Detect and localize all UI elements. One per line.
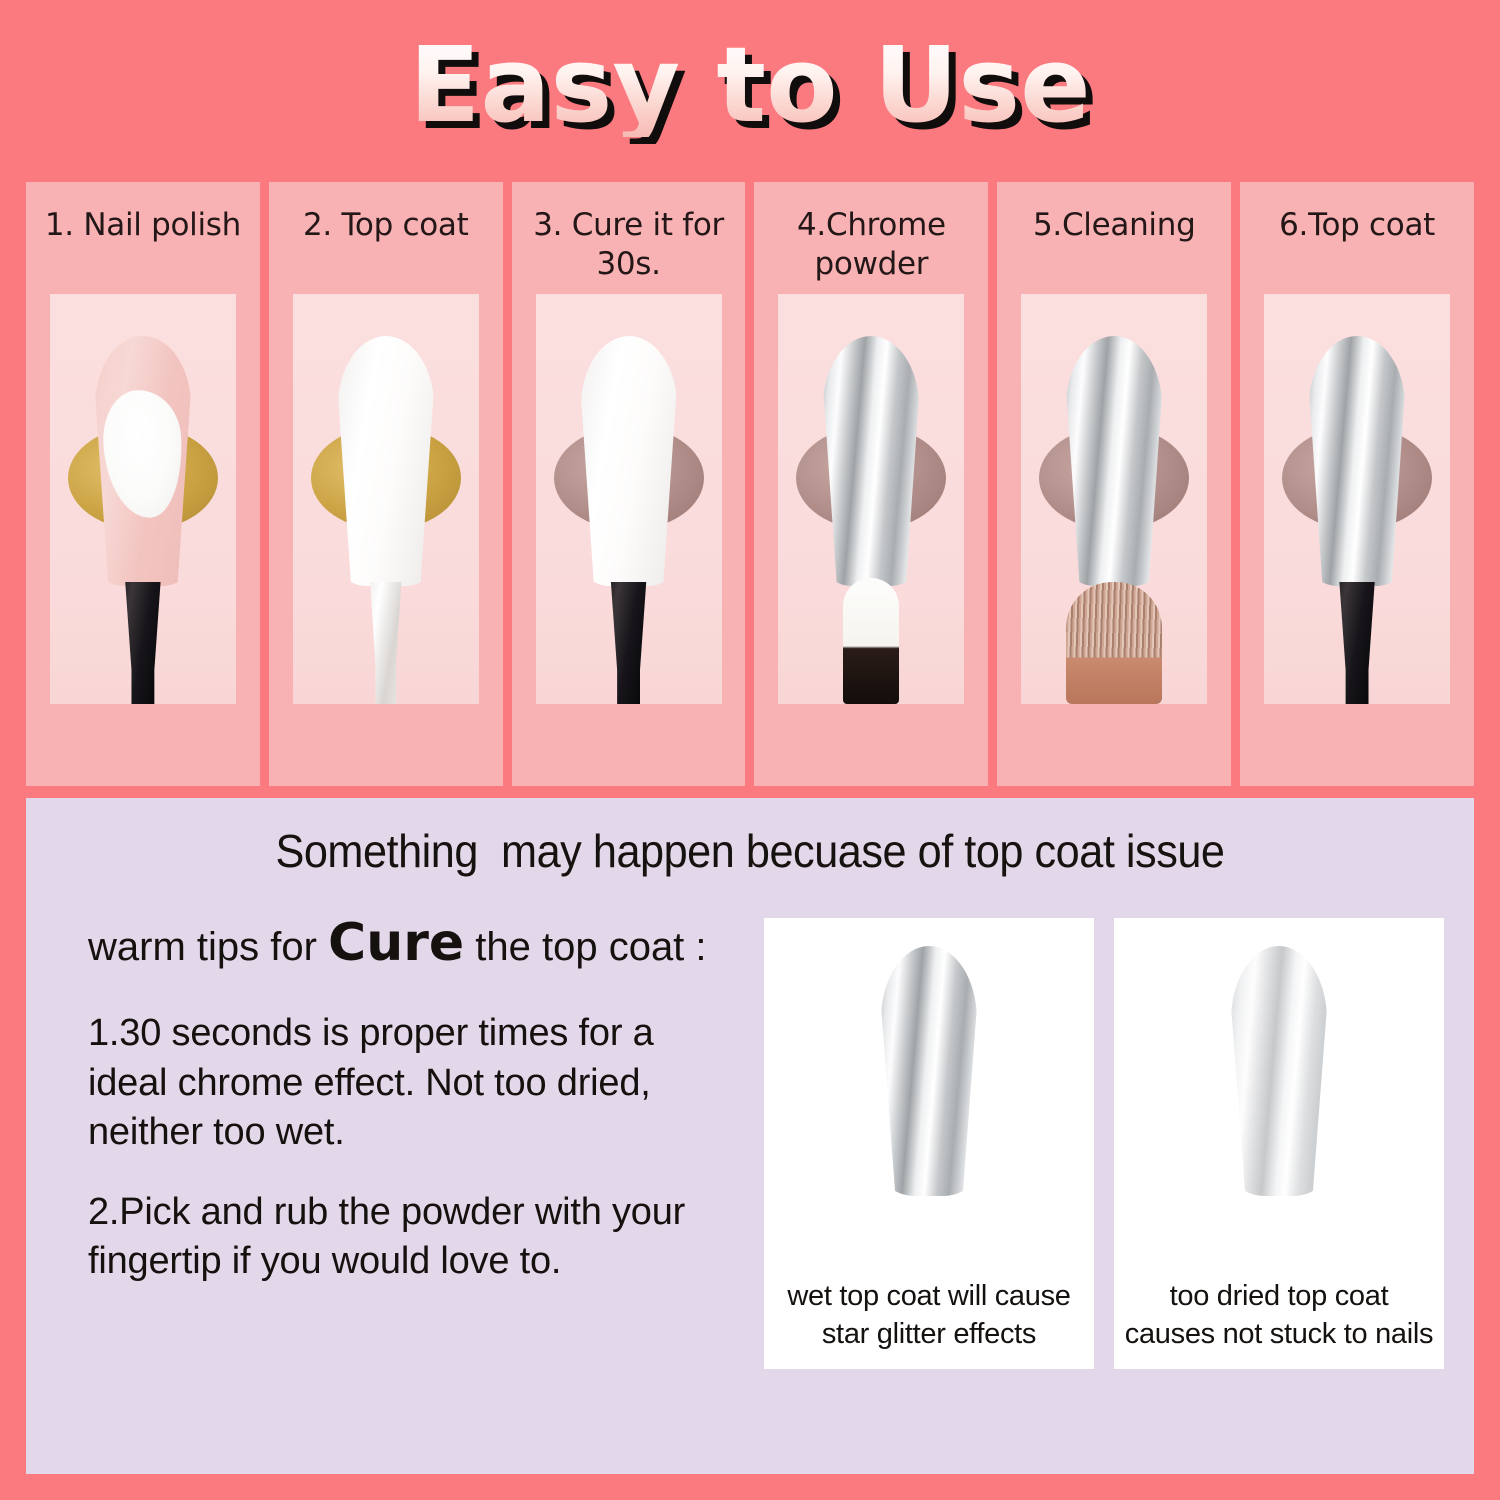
nail-tip <box>338 336 434 586</box>
title-bar: Easy to Use <box>0 0 1500 170</box>
step-photo-4 <box>778 294 964 704</box>
nail-tip <box>1231 946 1327 1196</box>
comparison-photo-dried <box>1129 940 1429 1270</box>
step-photo-6 <box>1264 294 1450 704</box>
notice-heading: Something may happen becuase of top coat… <box>69 798 1430 878</box>
dusting-brush-icon <box>1066 582 1162 704</box>
step-photo-1 <box>50 294 236 704</box>
comparison-card-dried: too dried top coat causes not stuck to n… <box>1114 918 1444 1369</box>
tips-lead-before: warm tips for <box>88 925 328 969</box>
step-label-2: 2. Top coat <box>297 206 474 290</box>
nail-tip <box>881 946 977 1196</box>
tips-lead-emphasis: Cure <box>328 913 464 973</box>
nail-tip <box>823 336 919 586</box>
step-label-5: 5.Cleaning <box>1027 206 1202 290</box>
comparison-photo-wet <box>779 940 1079 1270</box>
step-label-1: 1. Nail polish <box>39 206 247 290</box>
polish-bottle-cap-icon <box>603 582 655 704</box>
step-card-1: 1. Nail polish <box>26 182 260 786</box>
polish-bottle-cap-icon <box>117 582 169 704</box>
comparison-caption: too dried top coat causes not stuck to n… <box>1124 1278 1434 1353</box>
step-photo-5 <box>1021 294 1207 704</box>
tip-item: 1.30 seconds is proper times for a ideal… <box>66 1009 738 1157</box>
tips-column: warm tips for Cure the top coat : 1.30 s… <box>66 912 738 1369</box>
top-coat-brush-icon <box>360 582 412 704</box>
comparison-row: wet top coat will cause star glitter eff… <box>764 912 1444 1369</box>
step-card-5: 5.Cleaning <box>997 182 1231 786</box>
notice-body: warm tips for Cure the top coat : 1.30 s… <box>26 878 1474 1369</box>
nail-tip <box>1309 336 1405 586</box>
tips-lead-after: the top coat : <box>464 925 706 969</box>
notice-panel: Something may happen becuase of top coat… <box>26 798 1474 1474</box>
step-card-2: 2. Top coat <box>269 182 503 786</box>
step-label-3: 3. Cure it for 30s. <box>512 206 746 290</box>
step-card-4: 4.Chrome powder <box>754 182 988 786</box>
step-card-6: 6.Top coat <box>1240 182 1474 786</box>
page-title: Easy to Use <box>409 33 1090 137</box>
nail-tip <box>1066 336 1162 586</box>
step-card-3: 3. Cure it for 30s. <box>512 182 746 786</box>
comparison-caption: wet top coat will cause star glitter eff… <box>774 1278 1084 1353</box>
step-photo-2 <box>293 294 479 704</box>
tip-item: 2.Pick and rub the powder with your fing… <box>66 1188 738 1287</box>
step-photo-3 <box>536 294 722 704</box>
sponge-applicator-icon <box>843 578 899 704</box>
polish-bottle-cap-icon <box>1331 582 1383 704</box>
comparison-card-wet: wet top coat will cause star glitter eff… <box>764 918 1094 1369</box>
infographic-page: Easy to Use 1. Nail polish 2. Top coat 3… <box>0 0 1500 1500</box>
tips-lead: warm tips for Cure the top coat : <box>66 912 738 975</box>
step-label-4: 4.Chrome powder <box>754 206 988 290</box>
step-label-6: 6.Top coat <box>1273 206 1441 290</box>
steps-strip: 1. Nail polish 2. Top coat 3. Cure it fo… <box>26 182 1474 786</box>
nail-tip <box>581 336 677 586</box>
